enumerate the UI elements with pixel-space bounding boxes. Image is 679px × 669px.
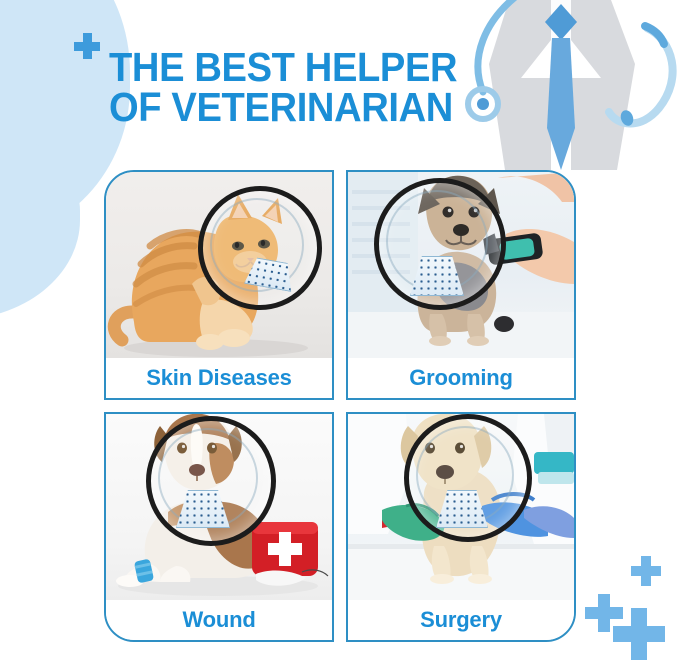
photo-wound — [106, 414, 332, 600]
photo-surgery — [348, 414, 574, 600]
feature-card-skin-diseases[interactable]: Skin Diseases — [104, 170, 334, 400]
feature-card-surgery[interactable]: Surgery — [346, 412, 576, 642]
feature-card-grid: Skin Diseases — [104, 170, 576, 662]
feature-card-grooming[interactable]: Grooming — [346, 170, 576, 400]
doctor-coat-illustration — [459, 0, 679, 170]
plus-cluster — [585, 550, 675, 665]
photo-skin-diseases — [106, 172, 332, 358]
product-infographic: THE BEST HELPER OF VETERINARIAN — [0, 0, 679, 669]
card-label-wound: Wound — [106, 600, 332, 640]
photo-grooming — [348, 172, 574, 358]
page-title: THE BEST HELPER OF VETERINARIAN — [109, 47, 500, 127]
plus-icon-title — [74, 33, 100, 59]
plus-icon-small — [631, 556, 661, 586]
feature-card-wound[interactable]: Wound — [104, 412, 334, 642]
card-label-skin-diseases: Skin Diseases — [106, 358, 332, 398]
plus-icon-large — [613, 608, 665, 660]
card-label-surgery: Surgery — [348, 600, 574, 640]
card-label-grooming: Grooming — [348, 358, 574, 398]
header: THE BEST HELPER OF VETERINARIAN — [0, 0, 679, 170]
